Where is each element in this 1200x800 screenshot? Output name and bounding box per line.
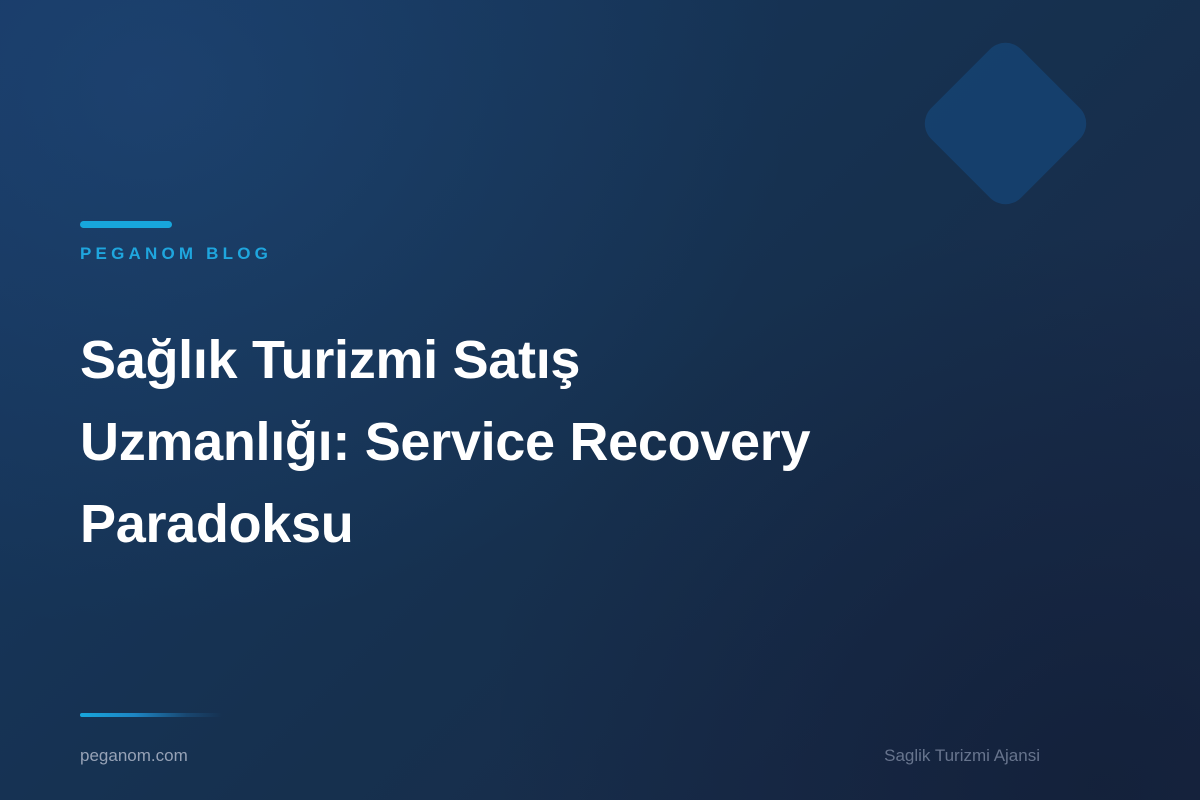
headline-line-2: Uzmanlığı: Service Recovery [80,401,960,483]
eyebrow-label: PEGANOM BLOG [80,243,272,265]
footer-accent-bar [80,713,222,717]
footer-domain: peganom.com [80,745,188,767]
headline-line-1: Sağlık Turizmi Satış [80,319,960,401]
eyebrow-accent-bar [80,221,172,228]
banner-content: PEGANOM BLOG Sağlık Turizmi Satış Uzmanl… [80,0,1200,800]
blog-cover-banner: PEGANOM BLOG Sağlık Turizmi Satış Uzmanl… [0,0,1200,800]
page-title: Sağlık Turizmi Satış Uzmanlığı: Service … [80,319,960,565]
footer-tagline: Saglik Turizmi Ajansi [884,745,1040,767]
headline-line-3: Paradoksu [80,483,960,565]
